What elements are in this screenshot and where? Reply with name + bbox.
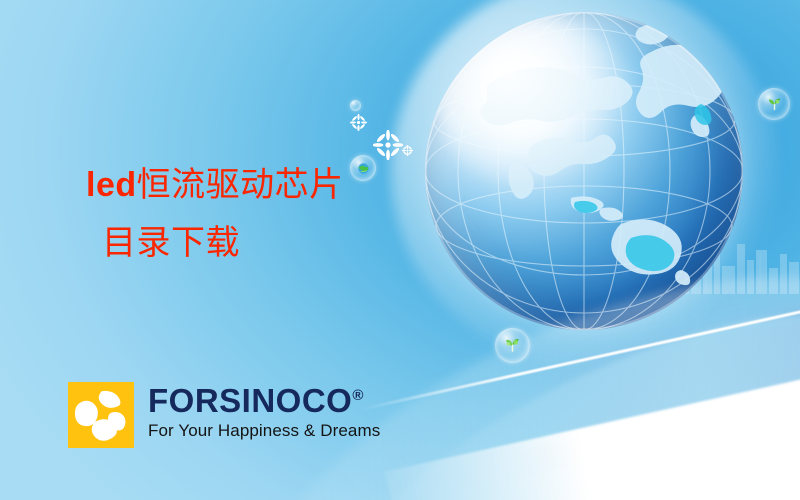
headline-cjk-part: 恒流驱动芯片 <box>137 165 344 205</box>
company-logo: FORSINOCO® For Your Happiness & Dreams <box>68 382 380 448</box>
corner-white-band <box>385 350 800 500</box>
company-tagline: For Your Happiness & Dreams <box>148 422 380 439</box>
headline-line-1: led恒流驱动芯片 <box>86 168 506 202</box>
bubble-plant <box>495 328 530 363</box>
bubble-plain-top <box>350 100 361 111</box>
logo-text-block: FORSINOCO® For Your Happiness & Dreams <box>148 384 380 439</box>
bubble-leaf-right <box>758 88 790 120</box>
company-name-text: FORSINOCO <box>148 382 352 419</box>
registered-trademark-symbol: ® <box>352 387 364 404</box>
headline-line-2: 目录下载 <box>102 226 506 260</box>
plant-sprout-icon <box>503 336 522 355</box>
sparkle-flower-2 <box>350 114 367 131</box>
forsinoco-pinwheel-mark <box>68 382 134 448</box>
pinwheel-petals-icon <box>68 382 134 448</box>
headline: led恒流驱动芯片 目录下载 <box>86 168 506 260</box>
banner-canvas: led恒流驱动芯片 目录下载 FORSINOCO® For Your Happi… <box>0 0 800 500</box>
headline-latin-word: led <box>86 166 137 204</box>
leaf-icon <box>766 96 783 113</box>
company-name: FORSINOCO® <box>148 384 380 417</box>
